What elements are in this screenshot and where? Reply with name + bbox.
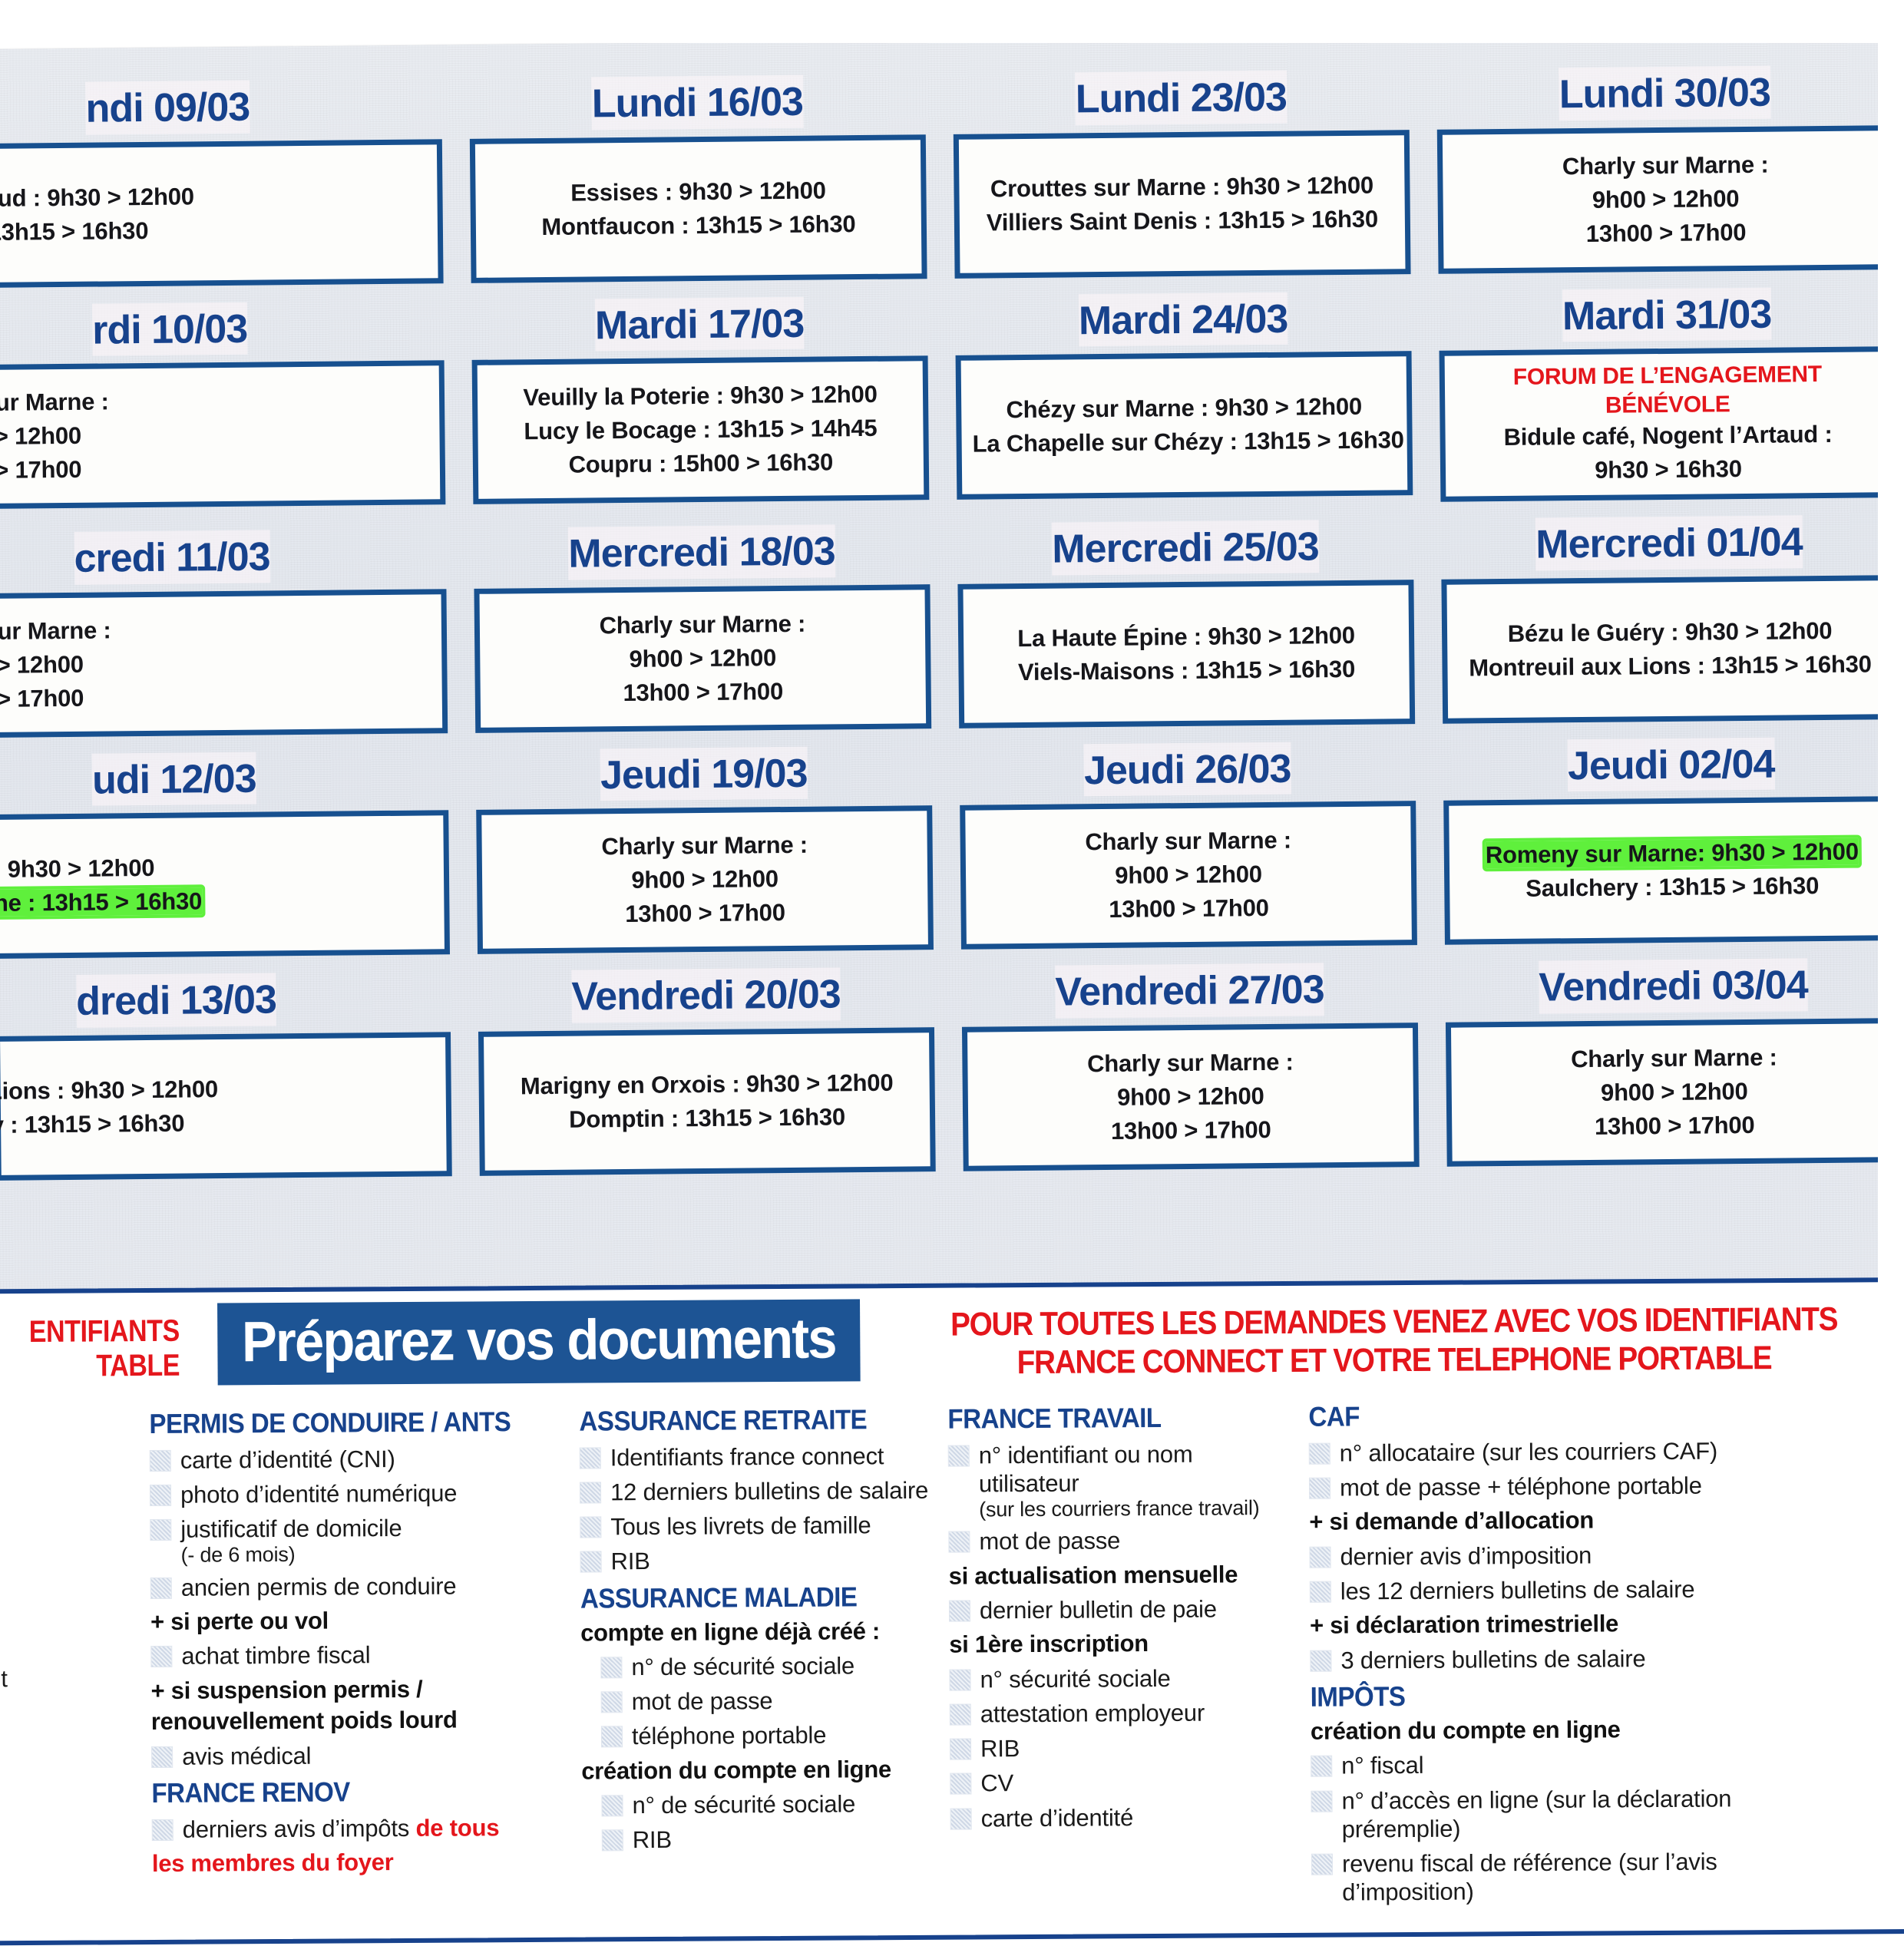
calendar-day-cell: Charly sur Marne :9h00 > 12h0013h00 > 17… (1437, 125, 1895, 274)
day-cell-content: FORUM DE L’ENGAGEMENTBÉNÉVOLEBidule café… (1456, 359, 1881, 488)
permanence-line: Marigny en Orxois : 9h30 > 12h00 (494, 1066, 918, 1103)
checkbox-icon[interactable] (152, 1819, 174, 1841)
document-item-label: justificatif de domicile(- de 6 mois) (180, 1514, 402, 1567)
documents-panel-header: ENTIFIANTSTABLE Préparez vos documents P… (0, 1293, 1890, 1389)
day-heading: rdi 10/03 (92, 302, 248, 356)
document-checklist-item[interactable]: mot de passe (948, 1525, 1298, 1556)
documents-subheading: renouvellement poids lourd (151, 1706, 570, 1736)
calendar-day-column: udi 12/03ery : 9h30 > 12h00Marne : 13h15… (0, 750, 464, 976)
day-cell-content: Chézy sur Marne : 9h30 > 12h00La Chapell… (972, 390, 1397, 461)
day-heading: Vendredi 03/04 (1539, 959, 1808, 1014)
document-checklist-item[interactable]: CV (950, 1767, 1300, 1798)
documents-panel: ENTIFIANTSTABLE Préparez vos documents P… (0, 1277, 1904, 1946)
documents-section-heading: ASSURANCE MALADIE (580, 1580, 910, 1614)
permis-conduire-column: PERMIS DE CONDUIRE / ANTScarte d’identit… (149, 1399, 582, 1920)
document-item-label: ancien permis de conduire (181, 1571, 457, 1601)
permanence-line: 'Artaud : 9h30 > 12h00 (0, 178, 369, 216)
calendar-day-cell: Romeny sur Marne: 9h30 > 12h00Saulchery … (1443, 796, 1901, 945)
permanence-line: uéry : 13h15 > 16h30 (0, 1105, 378, 1142)
documents-columns: parréeeeure paiementn ligneTSansmettreur… (0, 1391, 1893, 1921)
document-checklist-item[interactable]: 3 derniers bulletins de salaire (1310, 1643, 1836, 1674)
day-heading-wrap: dredi 13/03 (0, 972, 451, 1029)
cut-off-left-column: parréeeeure paiementn ligneTSansmettreur (0, 1402, 152, 1921)
permanence-line: 13h00 > 17h00 (1463, 1107, 1886, 1145)
checkbox-icon[interactable] (1309, 1546, 1330, 1568)
calendar-day-cell: Charly sur Marne :9h00 > 12h0013h00 > 17… (476, 806, 934, 955)
forum-title-line: BÉNÉVOLE (1456, 388, 1879, 421)
document-checklist-item[interactable]: téléphone portable (581, 1720, 939, 1751)
calendar-grid: ndi 09/03'Artaud : 9h30 > 12h00nt : 13h1… (0, 64, 1904, 1198)
permanence-line: 13h00 > 17h00 (493, 895, 917, 933)
document-item-label: RIB (980, 1734, 1020, 1763)
document-item-label: Tous les livrets de famille (610, 1511, 871, 1541)
permanence-line: 9h30 > 16h30 (1456, 451, 1880, 488)
calendar-day-column: Jeudi 19/03Charly sur Marne :9h00 > 12h0… (461, 745, 947, 972)
calendar-week-row: ndi 09/03'Artaud : 9h30 > 12h00nt : 13h1… (0, 64, 1904, 305)
document-item-label: mot de passe (632, 1687, 773, 1716)
document-item-label: CV (980, 1769, 1013, 1798)
permanence-line: Saulchery : 13h15 > 16h30 (1460, 869, 1884, 907)
forum-title-line: FORUM DE L’ENGAGEMENT (1456, 359, 1879, 392)
document-checklist-item[interactable]: photo d’identité numérique (150, 1478, 569, 1510)
calendar-day-cell: Essises : 9h30 > 12h00Montfaucon : 13h15… (470, 134, 927, 283)
document-checklist-item[interactable]: n° identifiant ou nom utilisateur(sur le… (948, 1439, 1299, 1521)
document-checklist-item[interactable]: n° allocataire (sur les courriers CAF) (1309, 1436, 1836, 1467)
document-checklist-item[interactable]: mot de passe (581, 1686, 939, 1716)
permanence-line: Charly sur Marne : (978, 1044, 1402, 1082)
day-cell-content: ery : 9h30 > 12h00Marne : 13h15 > 16h30 (0, 850, 376, 921)
permanence-line: La Haute Épine : 9h30 > 12h00 (974, 618, 1398, 656)
calendar-day-cell: Crouttes sur Marne : 9h30 > 12h00Villier… (954, 130, 1411, 279)
day-heading: Mardi 24/03 (1079, 292, 1288, 346)
calendar-day-cell: rly sur Marne :h00 > 12h00h00 > 17h00 (0, 589, 448, 738)
permanence-line: Crouttes sur Marne : 9h30 > 12h00 (970, 168, 1393, 206)
checkbox-icon[interactable] (948, 1445, 970, 1466)
permanence-line: 9h00 > 12h00 (977, 857, 1400, 894)
day-heading-wrap: Jeudi 19/03 (475, 745, 932, 802)
document-checklist-item[interactable]: RIB (580, 1545, 937, 1576)
cut-off-text-line: TS (0, 1736, 140, 1766)
preparez-vos-documents-banner: Préparez vos documents (217, 1299, 861, 1385)
permanence-line: Essises : 9h30 > 12h00 (486, 173, 910, 210)
day-heading-wrap: Mercredi 18/03 (474, 524, 931, 580)
day-heading: udi 12/03 (92, 752, 256, 806)
document-checklist-item[interactable]: 12 derniers bulletins de salaire (580, 1476, 937, 1507)
document-checklist-item[interactable]: n° d’accès en ligne (sur la déclaration … (1311, 1783, 1837, 1844)
day-heading-wrap: Mardi 24/03 (955, 291, 1412, 348)
day-cell-content: Charly sur Marne :9h00 > 12h0013h00 > 17… (976, 823, 1400, 928)
day-heading: Jeudi 26/03 (1084, 742, 1291, 796)
document-item-label: les 12 derniers bulletins de salaire (1340, 1575, 1695, 1606)
day-heading: credi 11/03 (74, 530, 270, 585)
day-cell-content: Crouttes sur Marne : 9h30 > 12h00Villier… (970, 168, 1394, 240)
document-checklist-item[interactable]: justificatif de domicile(- de 6 mois) (150, 1513, 569, 1568)
calendar-day-column: Vendredi 20/03Marigny en Orxois : 9h30 >… (464, 966, 950, 1193)
document-item-label: dernier avis d’imposition (1340, 1541, 1592, 1571)
permanence-line: Marne : 13h15 > 16h30 (0, 884, 376, 921)
document-item-note: (sur les courriers france travail) (979, 1496, 1298, 1521)
calendar-day-column: Vendredi 03/04Charly sur Marne :9h00 > 1… (1431, 957, 1904, 1184)
calendar-day-cell: Chézy sur Marne : 9h30 > 12h00La Chapell… (956, 351, 1413, 500)
permanence-line: Montfaucon : 13h15 > 16h30 (487, 206, 911, 244)
checkbox-icon[interactable] (1310, 1650, 1331, 1671)
day-cell-content: Marigny en Orxois : 9h30 > 12h00Domptin … (494, 1066, 919, 1137)
cut-off-text-line: e paiement (0, 1664, 140, 1693)
documents-section-heading: IMPÔTS (1311, 1678, 1795, 1713)
calendar-day-cell: rly sur Marne :h00 > 12h00h00 > 17h00 (0, 360, 445, 509)
calendar-week-row: rdi 10/03rly sur Marne :h00 > 12h00h00 >… (0, 286, 1904, 534)
document-checklist-item[interactable]: n° de sécurité sociale (581, 1789, 939, 1820)
day-heading: Mercredi 01/04 (1535, 515, 1803, 570)
permanence-line: Bidule café, Nogent l’Artaud : (1456, 417, 1879, 454)
calendar-week-row: udi 12/03ery : 9h30 > 12h00Marne : 13h15… (0, 736, 1904, 976)
permanence-line: 9h00 > 12h00 (1463, 1073, 1886, 1111)
day-heading: dredi 13/03 (76, 973, 276, 1028)
calendar-day-column: Mardi 24/03Chézy sur Marne : 9h30 > 12h0… (941, 291, 1427, 524)
day-heading: Lundi 30/03 (1559, 66, 1770, 121)
documents-subheading: si actualisation mensuelle (949, 1560, 1299, 1590)
permanence-line: rly sur Marne : (0, 611, 373, 649)
document-item-label: mot de passe + téléphone portable (1340, 1472, 1702, 1502)
permanence-line: 9h00 > 12h00 (493, 861, 917, 899)
cut-off-text-line: ur (0, 1855, 141, 1885)
permanence-line: Charly sur Marne : (976, 823, 1400, 861)
day-cell-content: Charly sur Marne :9h00 > 12h0013h00 > 17… (978, 1044, 1403, 1149)
day-heading: Vendredi 20/03 (571, 968, 841, 1023)
permanence-line: La Chapelle sur Chézy : 13h15 > 16h30 (972, 424, 1396, 461)
documents-subheading: les membres du foyer (152, 1848, 571, 1878)
documents-section-heading: CAF (1308, 1398, 1793, 1433)
document-checklist-item[interactable]: Identifiants france connect (580, 1441, 937, 1472)
day-heading: Mercredi 18/03 (568, 525, 835, 580)
checkbox-icon[interactable] (1310, 1581, 1331, 1603)
page-right-margin (1878, 0, 1904, 1904)
document-item-label: attestation employeur (980, 1699, 1205, 1729)
permanence-line: Romeny sur Marne: 9h30 > 12h00 (1460, 835, 1884, 873)
document-item-label: carte d’identité (981, 1803, 1134, 1832)
permanence-line: Bézu le Guéry : 9h30 > 12h00 (1458, 613, 1882, 651)
document-checklist-item[interactable]: dernier avis d’imposition (1309, 1539, 1836, 1571)
day-heading: Lundi 16/03 (592, 75, 804, 130)
calendar-day-column: Mercredi 01/04Bézu le Guéry : 9h30 > 12h… (1427, 514, 1904, 741)
permanence-line: 9h00 > 12h00 (979, 1078, 1403, 1115)
permanence-line: h00 > 17h00 (0, 679, 374, 716)
day-heading-wrap: Jeudi 02/04 (1443, 736, 1899, 793)
document-item-label: n° de sécurité sociale (631, 1651, 854, 1681)
day-heading-wrap: Mercredi 01/04 (1441, 514, 1898, 571)
calendar-day-cell: Marigny en Orxois : 9h30 > 12h00Domptin … (478, 1027, 936, 1176)
calendar-day-column: Vendredi 27/03Charly sur Marne :9h00 > 1… (947, 962, 1433, 1188)
checkbox-icon[interactable] (580, 1551, 602, 1573)
cut-off-text-line: eur (0, 1627, 140, 1657)
document-checklist-item[interactable]: mot de passe + téléphone portable (1309, 1471, 1836, 1502)
day-heading-wrap: Lundi 23/03 (953, 69, 1410, 126)
calendar-day-cell: Charly sur Marne :9h00 > 12h0013h00 > 17… (1446, 1018, 1903, 1167)
checkbox-icon[interactable] (949, 1601, 970, 1622)
day-cell-content: Charly sur Marne :9h00 > 12h0013h00 > 17… (1453, 147, 1878, 252)
calendar-day-column: Lundi 16/03Essises : 9h30 > 12h00Montfau… (455, 74, 941, 300)
checkbox-icon[interactable] (1311, 1790, 1332, 1812)
document-item-note: (- de 6 mois) (180, 1542, 402, 1567)
day-heading: Jeudi 19/03 (600, 747, 808, 801)
checkbox-icon[interactable] (602, 1830, 623, 1852)
day-cell-content: Essises : 9h30 > 12h00Montfaucon : 13h15… (486, 173, 911, 244)
checkbox-icon[interactable] (1309, 1478, 1330, 1499)
document-item-label: derniers avis d’impôts de tous (183, 1813, 500, 1844)
day-cell-content: La Haute Épine : 9h30 > 12h00Viels-Maiso… (974, 618, 1399, 689)
calendar-day-cell: FORUM DE L’ENGAGEMENTBÉNÉVOLEBidule café… (1440, 346, 1897, 502)
checkbox-icon[interactable] (950, 1704, 971, 1726)
permanence-line: ux Lions : 9h30 > 12h00 (0, 1071, 378, 1108)
day-cell-content: Veuilly la Poterie : 9h30 > 12h00Lucy le… (488, 378, 913, 483)
day-heading-wrap: Mardi 31/03 (1439, 286, 1896, 343)
checkbox-icon[interactable] (150, 1646, 172, 1667)
calendar-day-cell: La Haute Épine : 9h30 > 12h00Viels-Maiso… (957, 580, 1415, 729)
document-item-label: 12 derniers bulletins de salaire (610, 1476, 928, 1507)
permanence-line: 9h00 > 12h00 (1453, 180, 1877, 218)
documents-panel-frame: ENTIFIANTSTABLE Préparez vos documents P… (0, 1277, 1904, 1946)
document-checklist-item[interactable]: carte d’identité (950, 1802, 1301, 1833)
permanence-line: h00 > 17h00 (0, 450, 372, 487)
day-heading: Jeudi 02/04 (1568, 737, 1775, 791)
left-cut-red-heading: ENTIFIANTSTABLE (0, 1303, 180, 1384)
day-heading-wrap: rdi 10/03 (0, 300, 444, 357)
permanence-line: 13h00 > 17h00 (977, 890, 1400, 928)
documents-subheading: + si demande d’allocation (1309, 1505, 1836, 1537)
documents-section-heading: FRANCE RENOV (151, 1775, 537, 1809)
day-heading-wrap: Vendredi 20/03 (478, 967, 934, 1024)
document-checklist-item[interactable]: Tous les livrets de famille (580, 1511, 937, 1541)
document-item-label: achat timbre fiscal (181, 1641, 370, 1671)
calendar-week-row: dredi 13/03ux Lions : 9h30 > 12h00uéry :… (0, 957, 1904, 1198)
document-item-emphasis: de tous (415, 1814, 499, 1842)
day-cell-content: Charly sur Marne :9h00 > 12h0013h00 > 17… (492, 828, 917, 933)
day-heading-wrap: Vendredi 03/04 (1445, 957, 1902, 1014)
permanence-line: Veuilly la Poterie : 9h30 > 12h00 (488, 378, 912, 415)
document-item-label: carte d’identité (CNI) (180, 1445, 395, 1475)
day-heading-wrap: udi 12/03 (0, 750, 448, 807)
document-checklist-item[interactable]: RIB (582, 1824, 940, 1855)
calendar-day-column: dredi 13/03ux Lions : 9h30 > 12h00uéry :… (0, 971, 466, 1198)
calendar-day-column: Mercredi 25/03La Haute Épine : 9h30 > 12… (944, 519, 1430, 745)
day-heading: Mercredi 25/03 (1052, 520, 1319, 576)
checkbox-icon[interactable] (1309, 1442, 1330, 1464)
calendar-week-row: credi 11/03rly sur Marne :h00 > 12h00h00… (0, 514, 1904, 755)
checkbox-icon[interactable] (600, 1657, 622, 1678)
day-heading-wrap: ndi 09/03 (0, 78, 442, 135)
document-item-label: téléphone portable (632, 1721, 826, 1751)
calendar-day-column: credi 11/03rly sur Marne :h00 > 12h00h00… (0, 528, 461, 755)
day-heading: Mardi 17/03 (595, 296, 805, 351)
checkbox-icon[interactable] (950, 1773, 971, 1795)
highlighted-permanence: Romeny sur Marne: 9h30 > 12h00 (1486, 838, 1859, 869)
document-item-label: n° fiscal (1341, 1751, 1423, 1780)
checkbox-icon[interactable] (949, 1669, 970, 1690)
checkbox-icon[interactable] (1311, 1854, 1333, 1875)
highlighted-permanence: Marne : 13h15 > 16h30 (0, 888, 202, 917)
calendar-day-cell: Charly sur Marne :9h00 > 12h0013h00 > 17… (962, 1023, 1420, 1171)
permanence-line: Villiers Saint Denis : 13h15 > 16h30 (970, 202, 1394, 240)
documents-section-heading: ASSURANCE RETRAITE (579, 1403, 908, 1438)
permanence-line: Chézy sur Marne : 9h30 > 12h00 (972, 390, 1396, 428)
permanence-line: ery : 9h30 > 12h00 (0, 850, 375, 887)
document-checklist-item[interactable]: revenu fiscal de référence (sur l’avis d… (1311, 1847, 1838, 1908)
permanence-line: Coupru : 15h00 > 16h30 (489, 445, 913, 483)
documents-subheading: + si déclaration trimestrielle (1310, 1609, 1836, 1640)
document-item-label: RIB (633, 1825, 672, 1854)
document-checklist-item[interactable]: ancien permis de conduire (150, 1571, 570, 1602)
calendar-day-column: Jeudi 26/03Charly sur Marne :9h00 > 12h0… (945, 741, 1431, 967)
france-travail-column: FRANCE TRAVAILn° identifiant ou nom util… (947, 1395, 1311, 1915)
calendar-day-cell: Bézu le Guéry : 9h30 > 12h00Montreuil au… (1441, 575, 1899, 724)
document-item-label: Identifiants france connect (610, 1442, 884, 1472)
document-checklist-item[interactable]: n° fiscal (1311, 1749, 1837, 1780)
checkbox-icon[interactable] (580, 1447, 601, 1469)
document-checklist-item[interactable]: avis médical (151, 1740, 570, 1771)
checkbox-icon[interactable] (601, 1795, 623, 1816)
day-cell-content: ux Lions : 9h30 > 12h00uéry : 13h15 > 16… (0, 1071, 378, 1142)
permanence-line: 9h00 > 12h00 (491, 639, 914, 677)
document-checklist-item[interactable]: derniers avis d’impôts de tous (152, 1813, 571, 1845)
day-cell-content: 'Artaud : 9h30 > 12h00nt : 13h15 > 16h30 (0, 178, 369, 249)
checkbox-icon[interactable] (580, 1482, 601, 1503)
cut-off-text-line: parrée (0, 1471, 139, 1501)
permanence-line: h00 > 12h00 (0, 645, 374, 682)
document-item-label: n° allocataire (sur les courriers CAF) (1340, 1436, 1718, 1467)
permanence-line: Charly sur Marne : (1462, 1039, 1886, 1077)
permanence-line: 13h00 > 17h00 (1454, 214, 1878, 252)
page-top-margin (0, 0, 1904, 43)
checkbox-icon[interactable] (151, 1746, 173, 1767)
checkbox-icon[interactable] (601, 1692, 623, 1713)
caf-impots-column: CAFn° allocataire (sur les courriers CAF… (1308, 1391, 1849, 1913)
checkbox-icon[interactable] (948, 1531, 970, 1553)
day-cell-content: Charly sur Marne :9h00 > 12h0013h00 > 17… (1462, 1039, 1886, 1145)
day-heading: Mardi 31/03 (1562, 287, 1772, 342)
documents-subheading: + si perte ou vol (150, 1605, 570, 1636)
calendar-day-column: rdi 10/03rly sur Marne :h00 > 12h00h00 >… (0, 300, 460, 534)
calendar-day-column: Lundi 30/03Charly sur Marne :9h00 > 12h0… (1423, 64, 1904, 291)
permanence-line: Charly sur Marne : (491, 606, 914, 643)
day-heading-wrap: Jeudi 26/03 (959, 741, 1416, 798)
permanence-line: Charly sur Marne : (492, 828, 916, 865)
document-checklist-item[interactable]: dernier bulletin de paie (949, 1594, 1299, 1625)
permanence-line: 13h00 > 17h00 (491, 673, 915, 711)
day-heading-wrap: credi 11/03 (0, 528, 446, 585)
permanence-line: h00 > 12h00 (0, 416, 372, 454)
documents-subheading: création du compte en ligne (581, 1755, 939, 1785)
permanence-line: Domptin : 13h15 > 16h30 (495, 1099, 919, 1137)
checkbox-icon[interactable] (950, 1739, 971, 1760)
permanence-line: rly sur Marne : (0, 382, 371, 420)
checkbox-icon[interactable] (580, 1517, 601, 1538)
checkbox-icon[interactable] (950, 1808, 972, 1829)
permanence-line: 13h00 > 17h00 (979, 1112, 1403, 1149)
day-heading: Lundi 23/03 (1075, 71, 1287, 125)
checkbox-icon[interactable] (1311, 1756, 1332, 1777)
day-heading-wrap: Lundi 16/03 (469, 74, 926, 131)
permanence-line: Charly sur Marne : (1453, 147, 1877, 184)
document-checklist-item[interactable]: achat timbre fiscal (150, 1640, 570, 1671)
documents-subheading: création du compte en ligne (1311, 1714, 1837, 1746)
document-item-label: RIB (610, 1547, 650, 1575)
checkbox-icon[interactable] (601, 1726, 623, 1748)
day-cell-content: rly sur Marne :h00 > 12h00h00 > 17h00 (0, 382, 372, 487)
documents-section-heading: PERMIS DE CONDUIRE / ANTS (149, 1406, 535, 1440)
calendar-day-column: ndi 09/03'Artaud : 9h30 > 12h00nt : 13h1… (0, 78, 458, 305)
day-heading: ndi 09/03 (85, 81, 250, 135)
document-item-label: n° identifiant ou nom utilisateur(sur le… (979, 1439, 1299, 1521)
day-heading-wrap: Lundi 30/03 (1436, 64, 1893, 121)
calendar-day-column: Mardi 31/03FORUM DE L’ENGAGEMENTBÉNÉVOLE… (1425, 286, 1904, 520)
permanence-line: Montreuil aux Lions : 13h15 > 16h30 (1458, 647, 1882, 685)
cut-off-text-line: n ligne (0, 1700, 140, 1730)
permanence-line: Viels-Maisons : 13h15 > 16h30 (974, 652, 1398, 689)
documents-subheading: compte en ligne déjà créé : (580, 1617, 938, 1647)
day-cell-content: Romeny sur Marne: 9h30 > 12h00Saulchery … (1460, 835, 1885, 907)
document-item-label: revenu fiscal de référence (sur l’avis d… (1342, 1847, 1838, 1907)
france-connect-warning: POUR TOUTES LES DEMANDES VENEZ AVEC VOS … (947, 1293, 1840, 1383)
document-checklist-item[interactable]: RIB (950, 1733, 1300, 1763)
calendar-day-column: Mercredi 18/03Charly sur Marne :9h00 > 1… (460, 524, 946, 750)
calendar-day-cell: 'Artaud : 9h30 > 12h00nt : 13h15 > 16h30 (0, 139, 444, 288)
document-item-label: n° sécurité sociale (980, 1664, 1170, 1694)
document-item-label: photo d’identité numérique (180, 1479, 457, 1509)
day-heading-wrap: Mercredi 25/03 (957, 519, 1414, 576)
day-cell-content: Charly sur Marne :9h00 > 12h0013h00 > 17… (491, 606, 915, 711)
documents-subheading: + si suspension permis / (150, 1674, 570, 1705)
documents-subheading: si 1ère inscription (949, 1629, 1299, 1659)
day-heading-wrap: Mardi 17/03 (471, 296, 928, 352)
calendar-day-column: Mardi 17/03Veuilly la Poterie : 9h30 > 1… (458, 296, 944, 529)
calendar-day-cell: Charly sur Marne :9h00 > 12h0013h00 > 17… (960, 801, 1417, 950)
checkbox-icon[interactable] (150, 1519, 171, 1541)
cut-off-text-line: ansmettre (0, 1819, 141, 1849)
calendar-day-cell: Charly sur Marne :9h00 > 12h0013h00 > 17… (474, 584, 931, 733)
calendar-day-column: Lundi 23/03Crouttes sur Marne : 9h30 > 1… (939, 69, 1425, 296)
document-item-label: avis médical (182, 1741, 311, 1770)
document-item-label: n° d’accès en ligne (sur la déclaration … (1341, 1783, 1837, 1843)
day-heading-wrap: Vendredi 27/03 (961, 963, 1418, 1019)
calendar-day-cell: ux Lions : 9h30 > 12h00uéry : 13h15 > 16… (0, 1032, 452, 1181)
document-item-label: mot de passe (979, 1527, 1120, 1556)
checkbox-icon[interactable] (150, 1450, 171, 1472)
document-checklist-item[interactable]: les 12 derniers bulletins de salaire (1310, 1574, 1836, 1605)
permanence-line: nt : 13h15 > 16h30 (0, 212, 369, 249)
document-item-label: dernier bulletin de paie (980, 1595, 1217, 1625)
calendar-day-cell: Veuilly la Poterie : 9h30 > 12h00Lucy le… (472, 355, 930, 504)
assurance-column: ASSURANCE RETRAITEIdentifiants france co… (579, 1396, 950, 1918)
checkbox-icon[interactable] (150, 1485, 171, 1506)
day-cell-content: rly sur Marne :h00 > 12h00h00 > 17h00 (0, 611, 374, 716)
checkbox-icon[interactable] (150, 1577, 172, 1598)
calendar-day-cell: ery : 9h30 > 12h00Marne : 13h15 > 16h30 (0, 811, 450, 960)
document-checklist-item[interactable]: carte d’identité (CNI) (150, 1443, 569, 1475)
document-checklist-item[interactable]: n° sécurité sociale (949, 1664, 1299, 1694)
day-cell-content: Bézu le Guéry : 9h30 > 12h00Montreuil au… (1458, 613, 1883, 685)
calendar-day-column: Jeudi 02/04Romeny sur Marne: 9h30 > 12h0… (1429, 736, 1904, 963)
document-item-label: n° de sécurité sociale (632, 1790, 855, 1820)
document-item-label: 3 derniers bulletins de salaire (1340, 1644, 1645, 1675)
document-checklist-item[interactable]: attestation employeur (950, 1698, 1300, 1729)
day-heading: Vendredi 27/03 (1055, 963, 1324, 1019)
permanence-line: Lucy le Bocage : 13h15 > 14h45 (488, 411, 912, 449)
cut-off-text-line: e (0, 1553, 140, 1583)
documents-section-heading: FRANCE TRAVAIL (947, 1401, 1270, 1436)
document-checklist-item[interactable]: n° de sécurité sociale (580, 1651, 938, 1682)
